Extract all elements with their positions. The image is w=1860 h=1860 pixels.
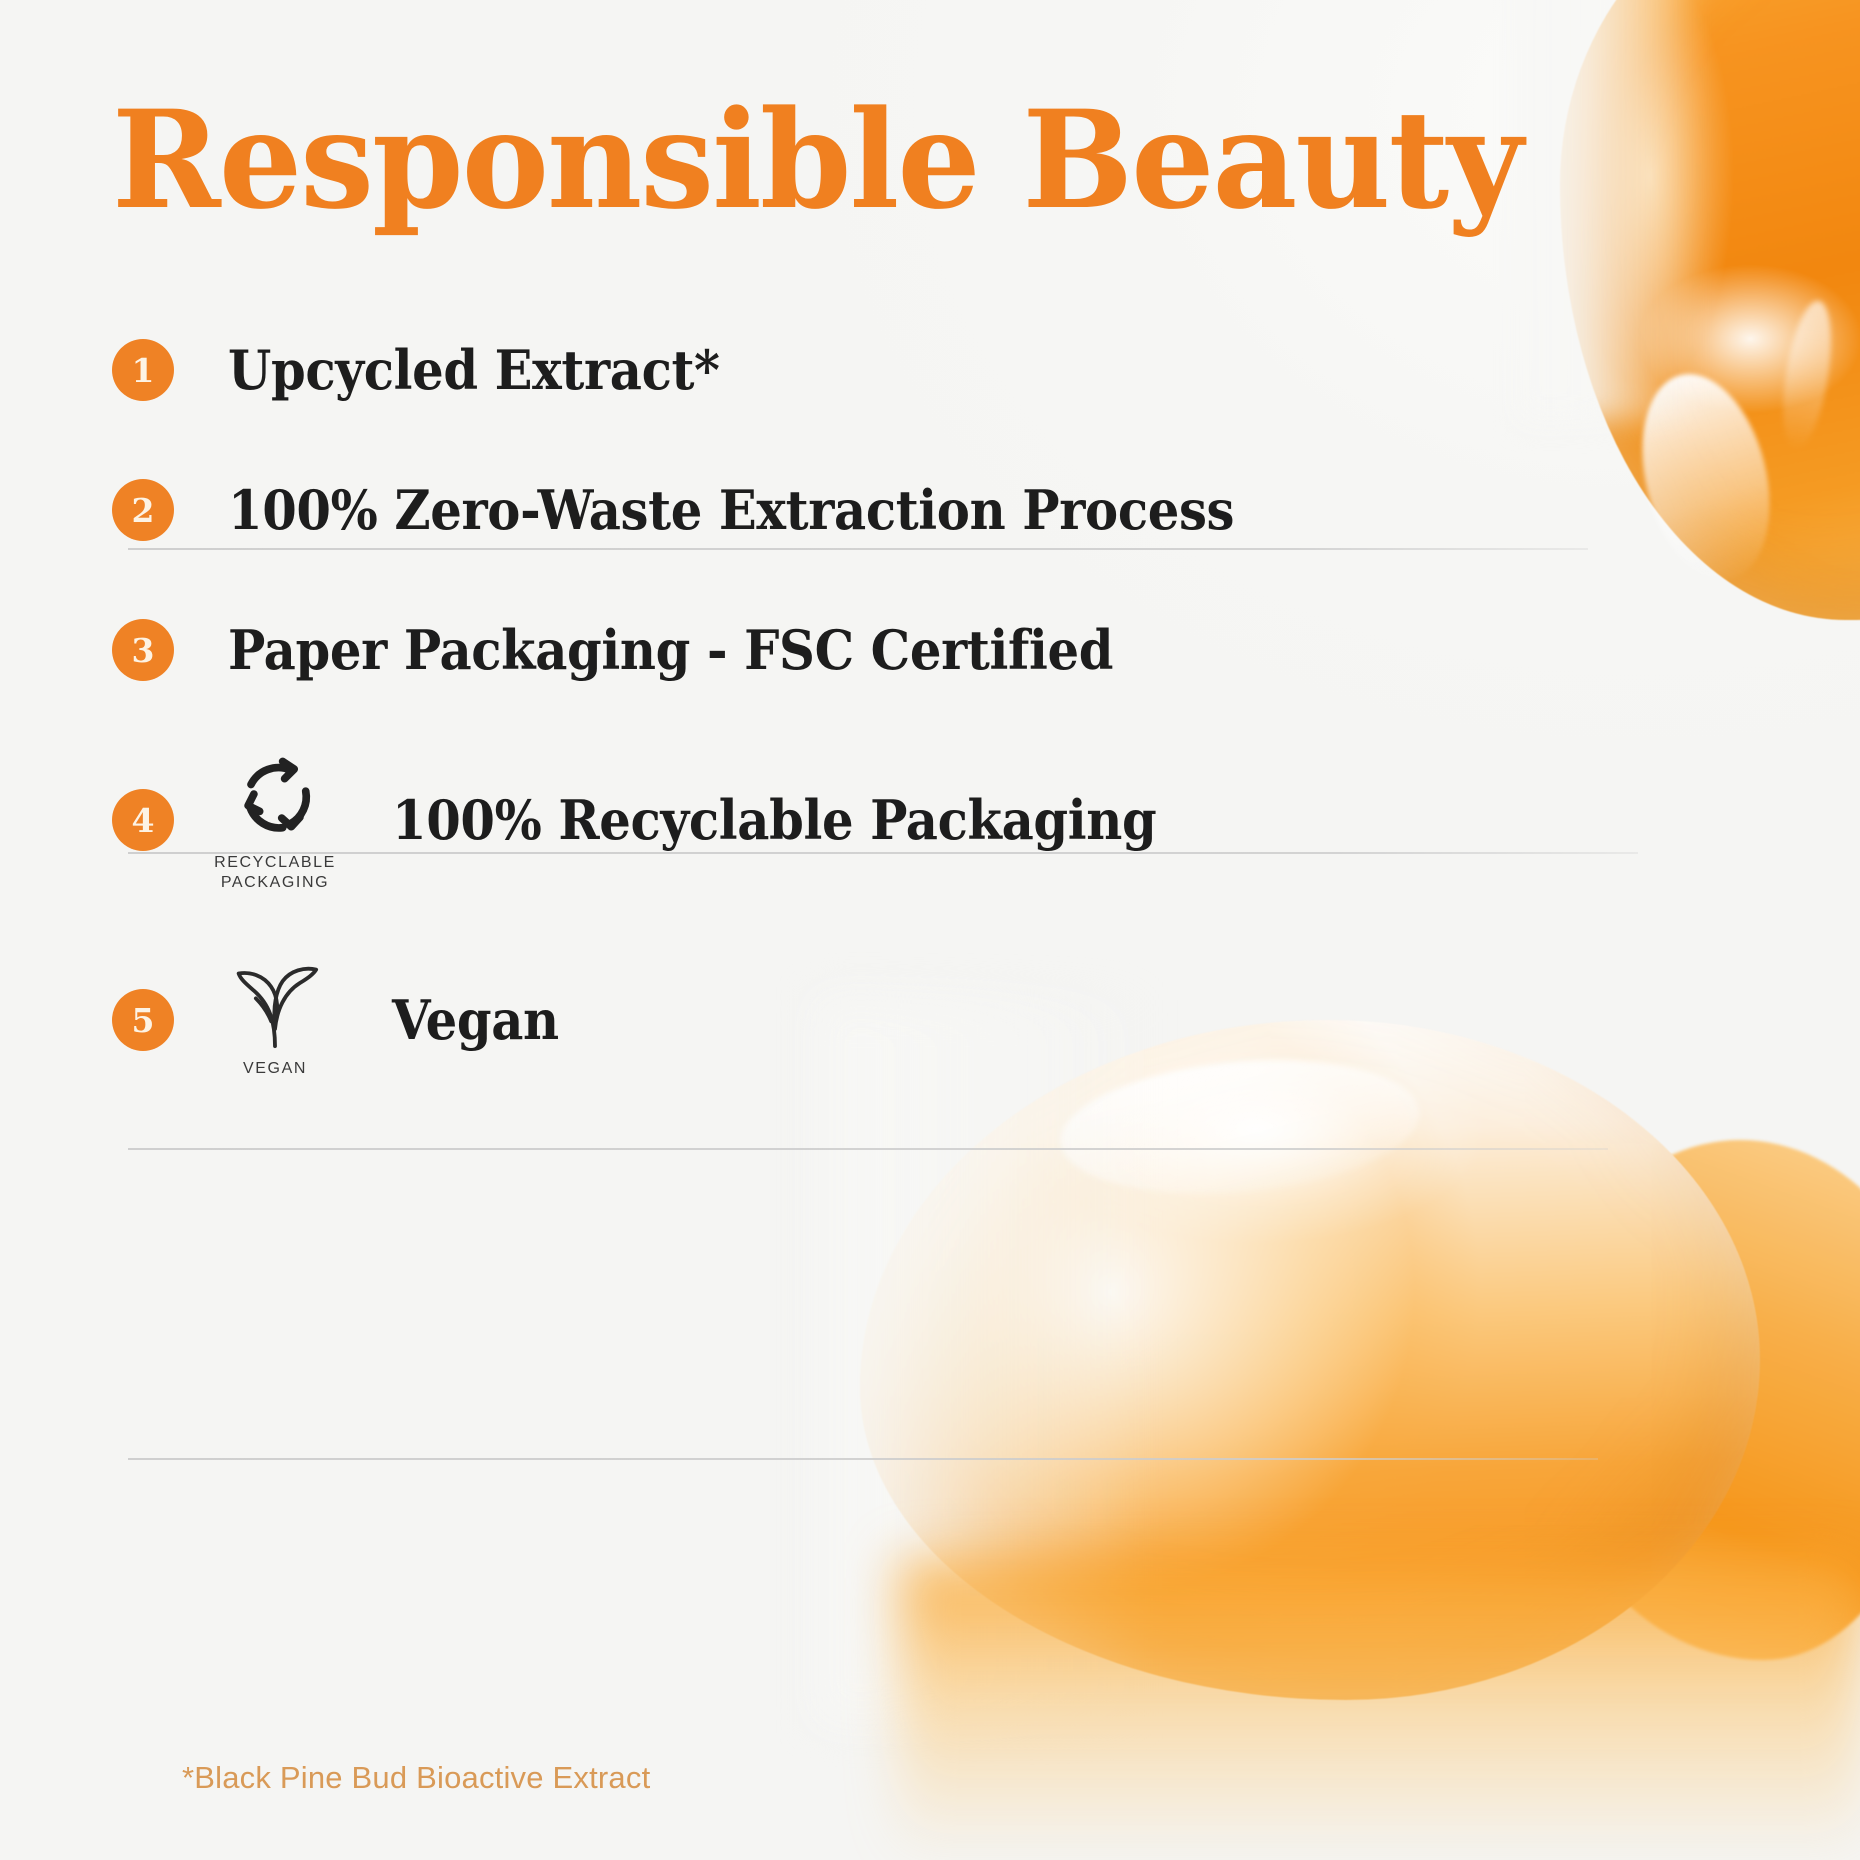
list-divider [128, 1458, 1598, 1460]
certification-label: RECYCLABLE PACKAGING [214, 853, 336, 893]
item-number-badge: 2 [112, 479, 174, 541]
droplet-bottom [860, 1020, 1760, 1700]
certification-label: VEGAN [243, 1059, 307, 1079]
list-item-label: Upcycled Extract* [228, 338, 720, 402]
list-item-label: 100% Recyclable Packaging [392, 788, 1156, 852]
infographic-canvas: Responsible Beauty 1 Upcycled Extract* 2… [0, 0, 1860, 1860]
list-divider [128, 1148, 1608, 1150]
list-item-label: 100% Zero-Waste Extraction Process [228, 478, 1234, 542]
list-item-label: Vegan [392, 988, 559, 1052]
list-item: 3 Paper Packaging - FSC Certified [0, 580, 1860, 720]
item-number-badge: 1 [112, 339, 174, 401]
droplet-bottom-base-glow [900, 1560, 1860, 1860]
list-item: 2 100% Zero-Waste Extraction Process [0, 440, 1860, 580]
list-item: 1 Upcycled Extract* [0, 300, 1860, 440]
item-number-badge: 4 [112, 789, 174, 851]
droplet-top-tail [1628, 0, 1860, 160]
list-divider [128, 852, 1638, 854]
item-number-badge: 3 [112, 619, 174, 681]
certification-vegan: VEGAN [200, 962, 350, 1079]
leaves-icon [227, 962, 323, 1050]
certification-recyclable: RECYCLABLE PACKAGING [200, 748, 350, 893]
benefits-list: 1 Upcycled Extract* 2 100% Zero-Waste Ex… [0, 300, 1860, 1120]
droplet-bottom-right [1540, 1140, 1860, 1660]
recycle-icon [227, 748, 323, 844]
page-title: Responsible Beauty [112, 92, 1521, 227]
list-divider [128, 548, 1588, 550]
list-item-label: Paper Packaging - FSC Certified [228, 618, 1113, 682]
list-item: 4 RECYCLABLE PACKAGING 100 [0, 720, 1860, 920]
item-number-badge: 5 [112, 989, 174, 1051]
footnote: *Black Pine Bud Bioactive Extract [182, 1760, 650, 1796]
list-item: 5 VEGAN Vegan [0, 920, 1860, 1120]
